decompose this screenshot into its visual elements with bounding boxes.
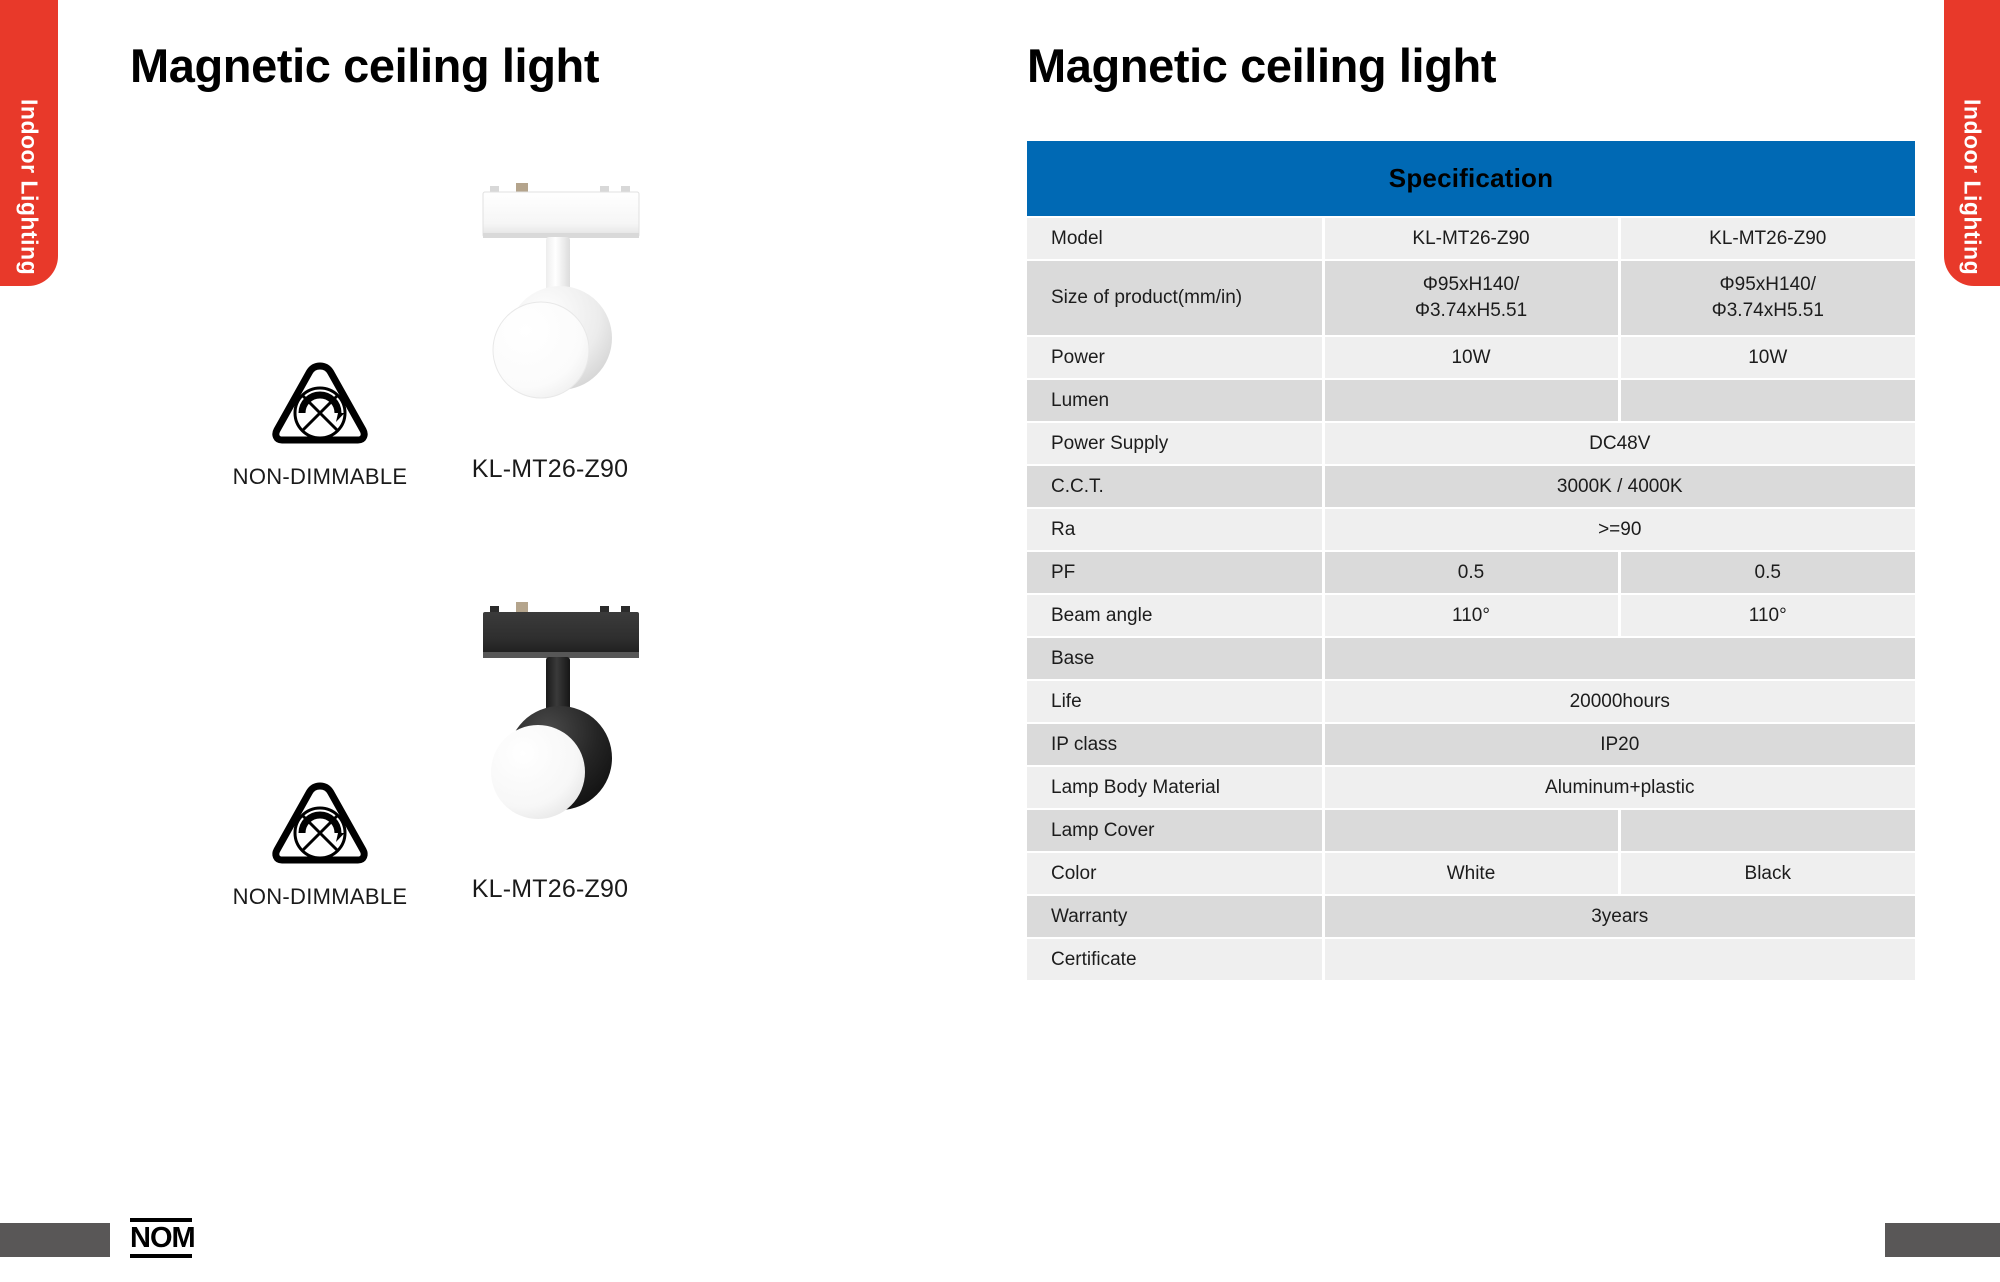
table-cell-label: Model: [1027, 217, 1323, 260]
table-cell-label: Power Supply: [1027, 422, 1323, 465]
footer-bar-right: [1885, 1223, 2000, 1257]
table-cell-value-2: 10W: [1619, 336, 1915, 379]
table-cell-label: Beam angle: [1027, 594, 1323, 637]
lamp-model-white: KL-MT26-Z90: [435, 455, 665, 484]
table-row: IP classIP20: [1027, 723, 1915, 766]
lamp-image-black: KL-MT26-Z90: [435, 600, 665, 904]
table-row: C.C.T.3000K / 4000K: [1027, 465, 1915, 508]
table-cell-value-2: Φ95xH140/Φ3.74xH5.51: [1619, 260, 1915, 336]
table-cell-label: Power: [1027, 336, 1323, 379]
table-cell-value-merged: 3years: [1323, 895, 1915, 938]
table-cell-value-2: KL-MT26-Z90: [1619, 217, 1915, 260]
table-cell-label: Lamp Cover: [1027, 809, 1323, 852]
table-cell-value-1: 110°: [1323, 594, 1619, 637]
table-cell-value-1: White: [1323, 852, 1619, 895]
table-cell-value-merged: DC48V: [1323, 422, 1915, 465]
table-cell-label: Size of product(mm/in): [1027, 260, 1323, 336]
table-row: Ra>=90: [1027, 508, 1915, 551]
table-cell-label: Life: [1027, 680, 1323, 723]
dimming-label-white: NON-DIMMABLE: [210, 464, 430, 490]
sidebar-tab-right-label: Indoor Lighting: [1959, 11, 1986, 275]
table-row: Lamp Body MaterialAluminum+plastic: [1027, 766, 1915, 809]
table-row: Certificate: [1027, 938, 1915, 981]
table-cell-value-merged: >=90: [1323, 508, 1915, 551]
table-row: Lamp Cover: [1027, 809, 1915, 852]
footer-bar-left: [0, 1223, 110, 1257]
specification-table: Specification ModelKL-MT26-Z90KL-MT26-Z9…: [1027, 141, 1915, 982]
table-row: Base: [1027, 637, 1915, 680]
dimming-badge-white: NON-DIMMABLE: [210, 360, 430, 490]
table-body: ModelKL-MT26-Z90KL-MT26-Z90Size of produ…: [1027, 217, 1915, 981]
table-cell-value-2: Black: [1619, 852, 1915, 895]
table-cell-value-merged: [1323, 938, 1915, 981]
table-row: ModelKL-MT26-Z90KL-MT26-Z90: [1027, 217, 1915, 260]
table-cell-value-merged: 20000hours: [1323, 680, 1915, 723]
table-row: Lumen: [1027, 379, 1915, 422]
table-cell-value-merged: 3000K / 4000K: [1323, 465, 1915, 508]
table-header-title: Specification: [1027, 141, 1915, 217]
table-cell-label: PF: [1027, 551, 1323, 594]
table-cell-label: Lamp Body Material: [1027, 766, 1323, 809]
table-cell-value-2: 0.5: [1619, 551, 1915, 594]
product-white: NON-DIMMABLE: [170, 180, 730, 550]
table-row: Beam angle110°110°: [1027, 594, 1915, 637]
table-cell-value-2: [1619, 379, 1915, 422]
table-row: ColorWhiteBlack: [1027, 852, 1915, 895]
dimming-label-black: NON-DIMMABLE: [210, 884, 430, 910]
non-dimmable-icon: [269, 780, 371, 866]
sidebar-tab-left: Indoor Lighting: [0, 0, 58, 286]
sidebar-tab-left-label: Indoor Lighting: [16, 11, 43, 275]
lamp-image-white: KL-MT26-Z90: [435, 180, 665, 484]
table-cell-label: Warranty: [1027, 895, 1323, 938]
table-cell-label: Base: [1027, 637, 1323, 680]
table-cell-label: IP class: [1027, 723, 1323, 766]
table-row: Size of product(mm/in)Φ95xH140/Φ3.74xH5.…: [1027, 260, 1915, 336]
lamp-model-black: KL-MT26-Z90: [435, 875, 665, 904]
non-dimmable-icon: [269, 360, 371, 446]
table-cell-label: Color: [1027, 852, 1323, 895]
table-cell-value-1: Φ95xH140/Φ3.74xH5.51: [1323, 260, 1619, 336]
page-title-right: Magnetic ceiling light: [1027, 38, 1496, 93]
table-cell-value-2: 110°: [1619, 594, 1915, 637]
table-cell-value-1: [1323, 809, 1619, 852]
table-row: Power10W10W: [1027, 336, 1915, 379]
lamp-render-white: [450, 180, 650, 430]
nom-logo: NOM: [130, 1218, 192, 1258]
page-title-left: Magnetic ceiling light: [130, 38, 599, 93]
table-row: Power SupplyDC48V: [1027, 422, 1915, 465]
table-row: Warranty3years: [1027, 895, 1915, 938]
table-cell-value-1: 10W: [1323, 336, 1619, 379]
product-black: NON-DIMMABLE: [170, 600, 730, 970]
nom-logo-text: NOM: [130, 1222, 192, 1254]
table-cell-value-merged: IP20: [1323, 723, 1915, 766]
lamp-render-black: [450, 600, 650, 850]
table-cell-value-2: [1619, 809, 1915, 852]
sidebar-tab-right: Indoor Lighting: [1944, 0, 2000, 286]
table-cell-label: Certificate: [1027, 938, 1323, 981]
table-cell-value-1: [1323, 379, 1619, 422]
nom-logo-bottom-rule: [130, 1254, 192, 1258]
table-cell-label: Lumen: [1027, 379, 1323, 422]
table-cell-label: Ra: [1027, 508, 1323, 551]
table-header-row: Specification: [1027, 141, 1915, 217]
table-cell-label: C.C.T.: [1027, 465, 1323, 508]
table-row: PF0.50.5: [1027, 551, 1915, 594]
table-cell-value-merged: Aluminum+plastic: [1323, 766, 1915, 809]
table-cell-value-1: KL-MT26-Z90: [1323, 217, 1619, 260]
table-cell-value-merged: [1323, 637, 1915, 680]
table-cell-value-1: 0.5: [1323, 551, 1619, 594]
dimming-badge-black: NON-DIMMABLE: [210, 780, 430, 910]
table-row: Life20000hours: [1027, 680, 1915, 723]
